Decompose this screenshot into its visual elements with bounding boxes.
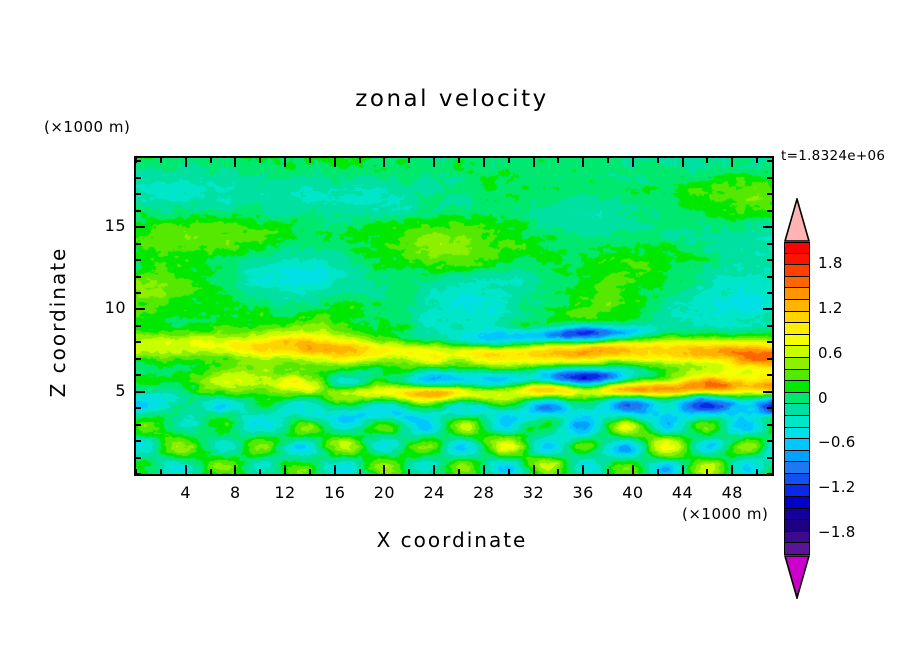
x-tick: [657, 469, 659, 474]
colorbar-band: [784, 265, 810, 277]
colorbar-over-cap: [784, 198, 810, 242]
y-tick: [136, 177, 141, 179]
x-tick: [756, 469, 758, 474]
x-tick-top: [160, 158, 162, 163]
x-tick-top: [706, 158, 708, 163]
x-tick-top: [433, 158, 435, 167]
colorbar-tick-label: −0.6: [818, 433, 856, 451]
y-tick: [136, 440, 141, 442]
x-tick-top: [359, 158, 361, 163]
y-tick-right: [767, 259, 772, 261]
colorbar-band: [784, 462, 810, 474]
y-tick: [136, 243, 141, 245]
y-tick-label: 5: [80, 381, 126, 400]
x-tick-label: 20: [359, 483, 409, 502]
y-tick: [136, 358, 141, 360]
x-tick: [234, 465, 236, 474]
y-tick-right: [767, 177, 772, 179]
colorbar-band: [784, 532, 810, 544]
colorbar-band: [784, 474, 810, 486]
colorbar-band: [784, 451, 810, 463]
figure-canvas: zonal velocity (×1000 m) t=1.8324e+06 48…: [0, 0, 904, 654]
colorbar-band: [784, 370, 810, 382]
colorbar-band: [784, 288, 810, 300]
x-tick-top: [458, 158, 460, 163]
x-tick-top: [682, 158, 684, 167]
x-tick: [731, 465, 733, 474]
y-tick: [136, 391, 145, 393]
x-tick-label: 4: [161, 483, 211, 502]
colorbar-tick-label: 1.8: [818, 254, 843, 272]
x-tick: [408, 469, 410, 474]
y-tick-right: [767, 193, 772, 195]
x-tick: [508, 469, 510, 474]
y-tick-right: [767, 440, 772, 442]
x-tick: [682, 465, 684, 474]
colorbar-band: [784, 543, 810, 555]
x-tick-top: [210, 158, 212, 163]
y-tick: [136, 276, 141, 278]
x-tick: [160, 469, 162, 474]
colorbar-band: [784, 520, 810, 532]
y-tick: [136, 308, 145, 310]
colorbar-band: [784, 346, 810, 358]
colorbar-band: [784, 428, 810, 440]
y-tick: [136, 226, 145, 228]
colorbar: 1.81.20.60−0.6−1.2−1.8: [780, 196, 900, 526]
contour-field: [136, 158, 772, 474]
x-tick: [284, 465, 286, 474]
y-tick: [136, 325, 141, 327]
y-tick-right: [763, 391, 772, 393]
colorbar-tick-label: 1.2: [818, 299, 843, 317]
y-tick: [136, 259, 141, 261]
x-tick-label: 16: [310, 483, 360, 502]
x-tick-label: 32: [509, 483, 559, 502]
y-tick-right: [763, 308, 772, 310]
y-tick-right: [767, 292, 772, 294]
y-tick-right: [767, 210, 772, 212]
x-tick-top: [185, 158, 187, 167]
x-tick: [433, 465, 435, 474]
x-tick: [359, 469, 361, 474]
x-tick-top: [234, 158, 236, 167]
x-tick: [334, 465, 336, 474]
colorbar-band: [784, 312, 810, 324]
y-tick: [136, 473, 141, 475]
x-tick: [533, 465, 535, 474]
x-tick-top: [533, 158, 535, 167]
x-tick-top: [334, 158, 336, 167]
colorbar-band: [784, 509, 810, 521]
x-tick-label: 36: [558, 483, 608, 502]
colorbar-band: [784, 277, 810, 289]
y-tick-right: [767, 424, 772, 426]
x-tick: [458, 469, 460, 474]
y-tick-right: [767, 473, 772, 475]
x-tick-label: 8: [210, 483, 260, 502]
y-axis-title: Z coordinate: [46, 212, 70, 432]
colorbar-tick-label: −1.2: [818, 478, 856, 496]
x-tick-label: 40: [608, 483, 658, 502]
x-tick: [210, 469, 212, 474]
y-tick: [136, 341, 141, 343]
y-tick: [136, 424, 141, 426]
y-tick-right: [767, 374, 772, 376]
x-tick-top: [383, 158, 385, 167]
y-tick: [136, 292, 141, 294]
colorbar-band: [784, 323, 810, 335]
x-tick-top: [731, 158, 733, 167]
x-tick-top: [632, 158, 634, 167]
colorbar-under-cap: [784, 555, 810, 599]
x-axis-unit-label: (×1000 m): [682, 505, 768, 523]
y-tick-right: [767, 276, 772, 278]
x-tick: [309, 469, 311, 474]
colorbar-bands: [784, 242, 810, 555]
y-tick-right: [767, 325, 772, 327]
x-tick: [483, 465, 485, 474]
x-tick-top: [756, 158, 758, 163]
x-tick: [706, 469, 708, 474]
y-tick: [136, 407, 141, 409]
y-tick: [136, 374, 141, 376]
x-tick: [557, 469, 559, 474]
y-axis-unit-label: (×1000 m): [44, 118, 130, 136]
x-tick-top: [557, 158, 559, 163]
colorbar-band: [784, 404, 810, 416]
colorbar-band: [784, 497, 810, 509]
x-tick: [632, 465, 634, 474]
y-tick-right: [767, 160, 772, 162]
y-tick: [136, 193, 141, 195]
colorbar-band: [784, 381, 810, 393]
y-tick: [136, 210, 141, 212]
y-tick-right: [767, 358, 772, 360]
y-tick-right: [767, 243, 772, 245]
y-tick-right: [767, 341, 772, 343]
colorbar-band: [784, 300, 810, 312]
x-tick: [582, 465, 584, 474]
x-tick-top: [607, 158, 609, 163]
colorbar-band: [784, 358, 810, 370]
y-tick-label: 10: [80, 298, 126, 317]
x-tick-top: [657, 158, 659, 163]
x-tick-top: [408, 158, 410, 163]
x-tick: [607, 469, 609, 474]
colorbar-band: [784, 242, 810, 254]
colorbar-band: [784, 439, 810, 451]
chart-title: zonal velocity: [0, 86, 904, 112]
colorbar-band: [784, 485, 810, 497]
colorbar-band: [784, 254, 810, 266]
x-tick-top: [582, 158, 584, 167]
x-axis-title: X coordinate: [0, 528, 904, 552]
colorbar-tick-label: −1.8: [818, 523, 856, 541]
x-tick-top: [284, 158, 286, 167]
y-tick-right: [763, 226, 772, 228]
x-tick-top: [309, 158, 311, 163]
x-tick-label: 48: [707, 483, 757, 502]
y-tick-right: [767, 407, 772, 409]
x-tick: [259, 469, 261, 474]
x-tick-label: 24: [409, 483, 459, 502]
x-tick-label: 44: [658, 483, 708, 502]
x-tick-label: 12: [260, 483, 310, 502]
y-tick: [136, 457, 141, 459]
plot-area: [134, 156, 774, 476]
colorbar-tick-label: 0: [818, 389, 828, 407]
y-tick-label: 15: [80, 216, 126, 235]
x-tick-top: [508, 158, 510, 163]
y-tick: [136, 160, 141, 162]
x-tick-label: 28: [459, 483, 509, 502]
colorbar-band: [784, 393, 810, 405]
x-tick-top: [483, 158, 485, 167]
x-tick: [185, 465, 187, 474]
x-tick-top: [259, 158, 261, 163]
timestamp-annotation: t=1.8324e+06: [781, 148, 885, 164]
y-tick-right: [767, 457, 772, 459]
colorbar-tick-label: 0.6: [818, 344, 843, 362]
colorbar-band: [784, 416, 810, 428]
x-tick: [383, 465, 385, 474]
colorbar-band: [784, 335, 810, 347]
